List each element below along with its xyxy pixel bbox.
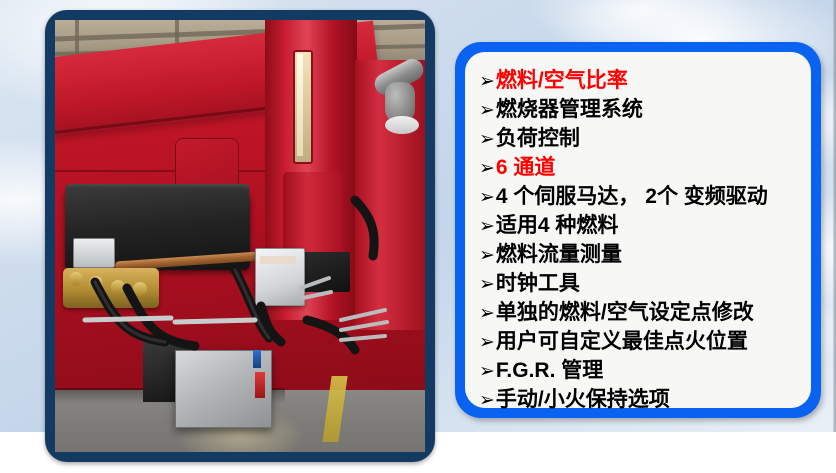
list-item: ➢ 用户可自定义最佳点火位置 [479, 327, 801, 356]
list-item: ➢ 时钟工具 [479, 269, 801, 298]
bullet-arrow-icon: ➢ [479, 328, 495, 357]
list-item-label: 手动/小火保持选项 [496, 385, 670, 414]
list-item: ➢ 手动/小火保持选项 [479, 385, 801, 414]
list-item-label: 单独的燃料/空气设定点修改 [496, 298, 754, 327]
bullet-arrow-icon: ➢ [479, 96, 495, 125]
bullet-arrow-icon: ➢ [479, 183, 495, 212]
list-item-label: 燃料/空气比率 [496, 66, 628, 95]
list-item: ➢ 4 个伺服马达， 2个 变频驱动 [479, 182, 801, 211]
bullet-arrow-icon: ➢ [479, 67, 495, 96]
photo-hose-overlay [55, 20, 425, 452]
list-item: ➢ 负荷控制 [479, 124, 801, 153]
bullet-arrow-icon: ➢ [479, 270, 495, 299]
bullet-arrow-icon: ➢ [479, 125, 495, 154]
list-item-label: 适用4 种燃料 [496, 211, 619, 240]
list-item-label: 时钟工具 [496, 269, 580, 298]
slide: ➢ 燃料/空气比率 ➢ 燃烧器管理系统 ➢ 负荷控制 ➢ 6 通道 ➢ 4 [0, 0, 836, 473]
list-item-label: 负荷控制 [496, 124, 580, 153]
list-item-label: 用户可自定义最佳点火位置 [496, 327, 748, 356]
list-item: ➢ 燃料/空气比率 [479, 66, 801, 95]
bullet-arrow-icon: ➢ [479, 154, 495, 183]
list-item-label: 燃料流量测量 [496, 240, 622, 269]
list-item: ➢ 燃料流量测量 [479, 240, 801, 269]
list-item: ➢ 适用4 种燃料 [479, 211, 801, 240]
bullet-arrow-icon: ➢ [479, 241, 495, 270]
list-item: ➢ F.G.R. 管理 [479, 356, 801, 385]
bullet-arrow-icon: ➢ [479, 357, 495, 386]
list-item-label: 4 个伺服马达， 2个 变频驱动 [496, 182, 768, 211]
bullet-arrow-icon: ➢ [479, 212, 495, 241]
list-item: ➢ 单独的燃料/空气设定点修改 [479, 298, 801, 327]
feature-callout-inner: ➢ 燃料/空气比率 ➢ 燃烧器管理系统 ➢ 负荷控制 ➢ 6 通道 ➢ 4 [465, 52, 811, 408]
feature-callout-box: ➢ 燃料/空气比率 ➢ 燃烧器管理系统 ➢ 负荷控制 ➢ 6 通道 ➢ 4 [455, 42, 821, 418]
list-item-label: F.G.R. 管理 [496, 356, 603, 385]
boiler-photo [55, 20, 425, 452]
feature-list: ➢ 燃料/空气比率 ➢ 燃烧器管理系统 ➢ 负荷控制 ➢ 6 通道 ➢ 4 [479, 66, 801, 414]
list-item-label: 6 通道 [496, 153, 556, 182]
list-item: ➢ 6 通道 [479, 153, 801, 182]
list-item: ➢ 燃烧器管理系统 [479, 95, 801, 124]
photo-frame [45, 10, 435, 462]
list-item-label: 燃烧器管理系统 [496, 95, 643, 124]
bullet-arrow-icon: ➢ [479, 386, 495, 415]
bullet-arrow-icon: ➢ [479, 299, 495, 328]
